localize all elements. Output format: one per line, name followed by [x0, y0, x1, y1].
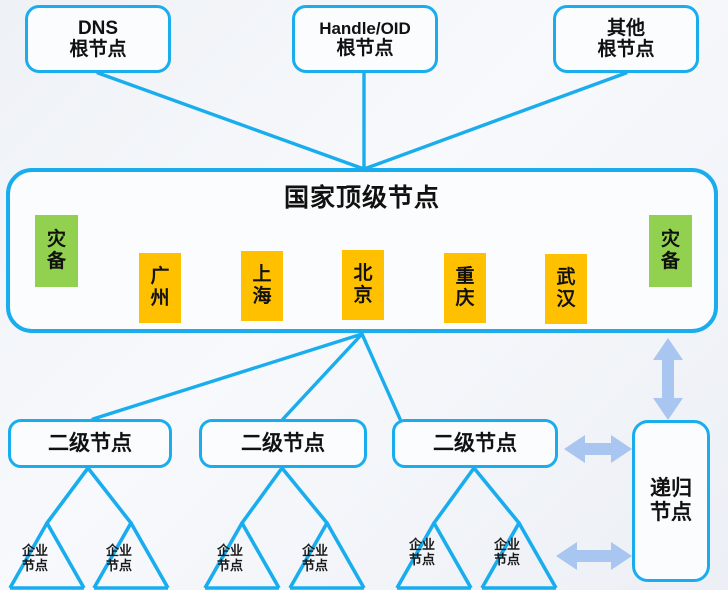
disaster-recovery-node-left[interactable]: 灾 备	[35, 215, 78, 287]
city-node-beijing-char2: 京	[353, 285, 372, 307]
disaster-recovery-node-right-char1: 灾	[661, 229, 680, 251]
enterprise-node-4-line1: 企业	[302, 544, 328, 559]
enterprise-node-4-line2: 节点	[302, 559, 328, 574]
city-node-beijing-char1: 北	[353, 263, 372, 285]
enterprise-node-6-label[interactable]: 企业 节点	[494, 538, 520, 568]
city-node-shanghai[interactable]: 上 海	[241, 251, 283, 321]
city-node-shanghai-char1: 上	[252, 264, 271, 286]
enterprise-node-1-line1: 企业	[22, 544, 48, 559]
enterprise-node-1-line2: 节点	[22, 559, 48, 574]
enterprise-node-3-line1: 企业	[217, 544, 243, 559]
city-node-guangzhou-char2: 州	[150, 288, 169, 310]
disaster-recovery-node-right-char2: 备	[661, 251, 680, 273]
enterprise-node-5-line1: 企业	[409, 538, 435, 553]
city-node-chongqing-char2: 庆	[455, 288, 474, 310]
disaster-recovery-node-left-char2: 备	[47, 251, 66, 273]
city-node-shanghai-char2: 海	[252, 286, 271, 308]
enterprise-node-3-line2: 节点	[217, 559, 243, 574]
city-node-wuhan[interactable]: 武 汉	[545, 254, 587, 324]
enterprise-node-2-line1: 企业	[106, 544, 132, 559]
diagram-canvas: DNS 根节点 Handle/OID 根节点 其他 根节点 国家顶级节点 灾 备…	[0, 0, 728, 590]
city-node-wuhan-char2: 汉	[556, 289, 575, 311]
enterprise-node-5-line2: 节点	[409, 553, 435, 568]
arrow-vertical-recursive	[653, 338, 683, 420]
enterprise-node-2-line2: 节点	[106, 559, 132, 574]
enterprise-node-4-label[interactable]: 企业 节点	[302, 544, 328, 574]
city-node-chongqing[interactable]: 重 庆	[444, 253, 486, 323]
enterprise-node-3-label[interactable]: 企业 节点	[217, 544, 243, 574]
disaster-recovery-node-left-char1: 灾	[47, 229, 66, 251]
arrow-second3-recursive	[564, 435, 632, 463]
city-node-beijing[interactable]: 北 京	[342, 250, 384, 320]
city-node-guangzhou[interactable]: 广 州	[139, 253, 181, 323]
enterprise-node-6-line1: 企业	[494, 538, 520, 553]
disaster-recovery-node-right[interactable]: 灾 备	[649, 215, 692, 287]
city-node-guangzhou-char1: 广	[150, 266, 169, 288]
city-node-chongqing-char1: 重	[455, 266, 474, 288]
enterprise-node-1-label[interactable]: 企业 节点	[22, 544, 48, 574]
arrow-enterprise-recursive	[556, 542, 632, 570]
enterprise-node-6-line2: 节点	[494, 553, 520, 568]
enterprise-node-2-label[interactable]: 企业 节点	[106, 544, 132, 574]
enterprise-node-5-label[interactable]: 企业 节点	[409, 538, 435, 568]
city-node-wuhan-char1: 武	[556, 267, 575, 289]
